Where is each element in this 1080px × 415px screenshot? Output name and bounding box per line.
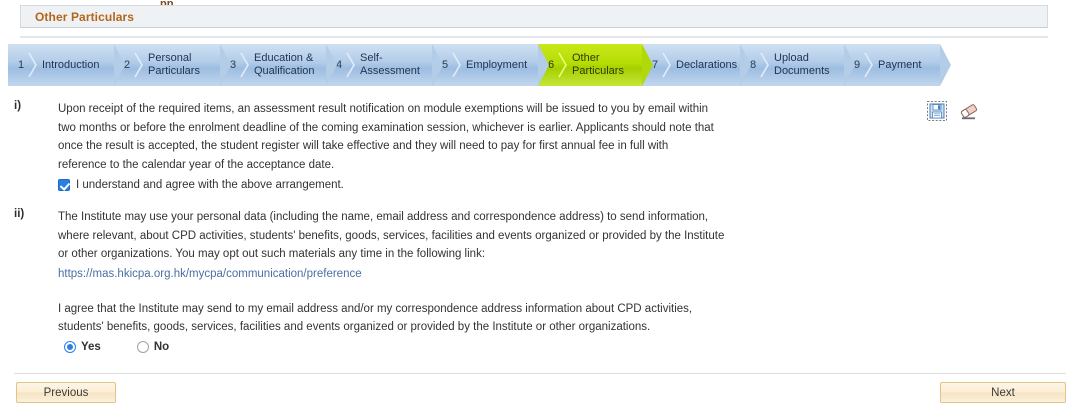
wizard-step-bar: 1Introduction2PersonalParticulars3Educat… bbox=[8, 44, 948, 86]
consent-option-yes[interactable]: Yes bbox=[64, 341, 101, 353]
clause-i-marker: i) bbox=[14, 100, 21, 112]
step-arrow-point bbox=[642, 44, 653, 86]
footer-divider bbox=[14, 373, 1066, 374]
section-header-bar: Other Particulars bbox=[20, 5, 1048, 28]
header-divider bbox=[20, 36, 1048, 38]
step-label: Employment bbox=[466, 44, 532, 86]
step-arrow-point bbox=[740, 44, 751, 86]
wizard-step-7[interactable]: 7Declarations bbox=[642, 44, 740, 86]
clause-i-text: Upon receipt of the required items, an a… bbox=[58, 100, 718, 174]
step-label: Declarations bbox=[676, 44, 734, 86]
radio-label: No bbox=[154, 341, 169, 353]
step-label: Self-Assessment bbox=[360, 44, 426, 86]
step-arrow-point bbox=[326, 44, 337, 86]
agreement-checkbox-row[interactable]: I understand and agree with the above ar… bbox=[58, 176, 1080, 194]
wizard-step-3[interactable]: 3Education &Qualification bbox=[220, 44, 326, 86]
step-arrow-point bbox=[220, 44, 231, 86]
step-label: Introduction bbox=[42, 44, 108, 86]
consent-radio-group[interactable]: YesNo bbox=[64, 341, 1080, 353]
application-form-page: pp Other Particulars 1Introduction2Perso… bbox=[0, 0, 1080, 415]
wizard-step-2[interactable]: 2PersonalParticulars bbox=[114, 44, 220, 86]
next-button[interactable]: Next bbox=[940, 382, 1066, 403]
step-label: OtherParticulars bbox=[572, 44, 636, 86]
agreement-checkbox[interactable] bbox=[58, 179, 70, 191]
chevron-right-icon bbox=[760, 52, 769, 78]
chevron-right-icon bbox=[134, 52, 143, 78]
step-arrow-point bbox=[538, 44, 549, 86]
consent-option-no[interactable]: No bbox=[137, 341, 169, 353]
agreement-checkbox-label: I understand and agree with the above ar… bbox=[76, 176, 344, 194]
step-label: PersonalParticulars bbox=[148, 44, 214, 86]
chevron-right-icon bbox=[28, 52, 37, 78]
consent-statement: I agree that the Institute may send to m… bbox=[58, 300, 730, 337]
chevron-right-icon bbox=[864, 52, 873, 78]
step-label: Payment bbox=[878, 44, 934, 86]
chevron-right-icon bbox=[240, 52, 249, 78]
step-arrow-point bbox=[114, 44, 125, 86]
radio-button[interactable] bbox=[137, 341, 149, 353]
step-arrow-point bbox=[844, 44, 855, 86]
step-number: 1 bbox=[18, 44, 24, 86]
chevron-right-icon bbox=[346, 52, 355, 78]
chevron-right-icon bbox=[452, 52, 461, 78]
form-content: i) Upon receipt of the required items, a… bbox=[0, 100, 1080, 353]
radio-button[interactable] bbox=[64, 341, 76, 353]
clause-ii-marker: ii) bbox=[14, 208, 24, 220]
previous-button[interactable]: Previous bbox=[16, 382, 116, 403]
step-label: Education &Qualification bbox=[254, 44, 320, 86]
step-label: UploadDocuments bbox=[774, 44, 838, 86]
preference-link[interactable]: https://mas.hkicpa.org.hk/mycpa/communic… bbox=[58, 268, 362, 280]
clause-ii: ii) The Institute may use your personal … bbox=[0, 208, 1080, 353]
page-title: Other Particulars bbox=[35, 10, 134, 24]
clause-i: i) Upon receipt of the required items, a… bbox=[0, 100, 1080, 194]
clause-ii-text: The Institute may use your personal data… bbox=[58, 208, 730, 264]
wizard-step-8[interactable]: 8UploadDocuments bbox=[740, 44, 844, 86]
wizard-step-9[interactable]: 9Payment bbox=[844, 44, 940, 86]
step-arrow-point bbox=[940, 44, 951, 86]
radio-label: Yes bbox=[81, 341, 101, 353]
wizard-step-4[interactable]: 4Self-Assessment bbox=[326, 44, 432, 86]
wizard-step-5[interactable]: 5Employment bbox=[432, 44, 538, 86]
step-arrow-point bbox=[432, 44, 443, 86]
wizard-step-6[interactable]: 6OtherParticulars bbox=[538, 44, 642, 86]
wizard-step-1[interactable]: 1Introduction bbox=[8, 44, 114, 86]
chevron-right-icon bbox=[662, 52, 671, 78]
chevron-right-icon bbox=[558, 52, 567, 78]
